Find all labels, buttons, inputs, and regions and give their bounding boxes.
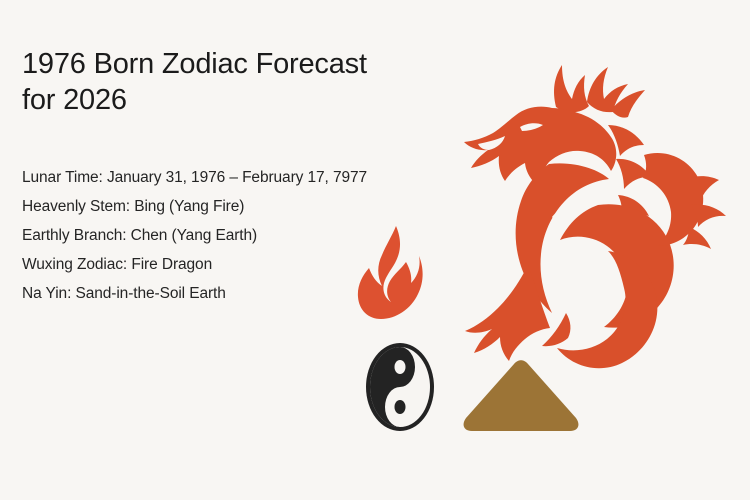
dragon-icon <box>448 55 748 375</box>
dragon-illustration <box>448 55 748 375</box>
text-column: 1976 Born Zodiac Forecast for 2026 <box>22 46 452 118</box>
mountain-triangle-icon <box>460 358 582 432</box>
detail-heavenly-stem: Heavenly Stem: Bing (Yang Fire) <box>22 192 462 221</box>
yinyang-illustration <box>364 341 436 433</box>
detail-lunar-time: Lunar Time: January 31, 1976 – February … <box>22 163 462 192</box>
detail-earthly-branch: Earthly Branch: Chen (Yang Earth) <box>22 221 462 250</box>
detail-na-yin: Na Yin: Sand-in-the-Soil Earth <box>22 279 462 308</box>
zodiac-forecast-card: 1976 Born Zodiac Forecast for 2026 Lunar… <box>0 0 750 500</box>
detail-wuxing-zodiac: Wuxing Zodiac: Fire Dragon <box>22 250 462 279</box>
yin-yang-icon <box>364 341 436 433</box>
page-title: 1976 Born Zodiac Forecast for 2026 <box>22 46 452 118</box>
mountain-illustration <box>460 358 582 432</box>
detail-list: Lunar Time: January 31, 1976 – February … <box>22 163 462 308</box>
